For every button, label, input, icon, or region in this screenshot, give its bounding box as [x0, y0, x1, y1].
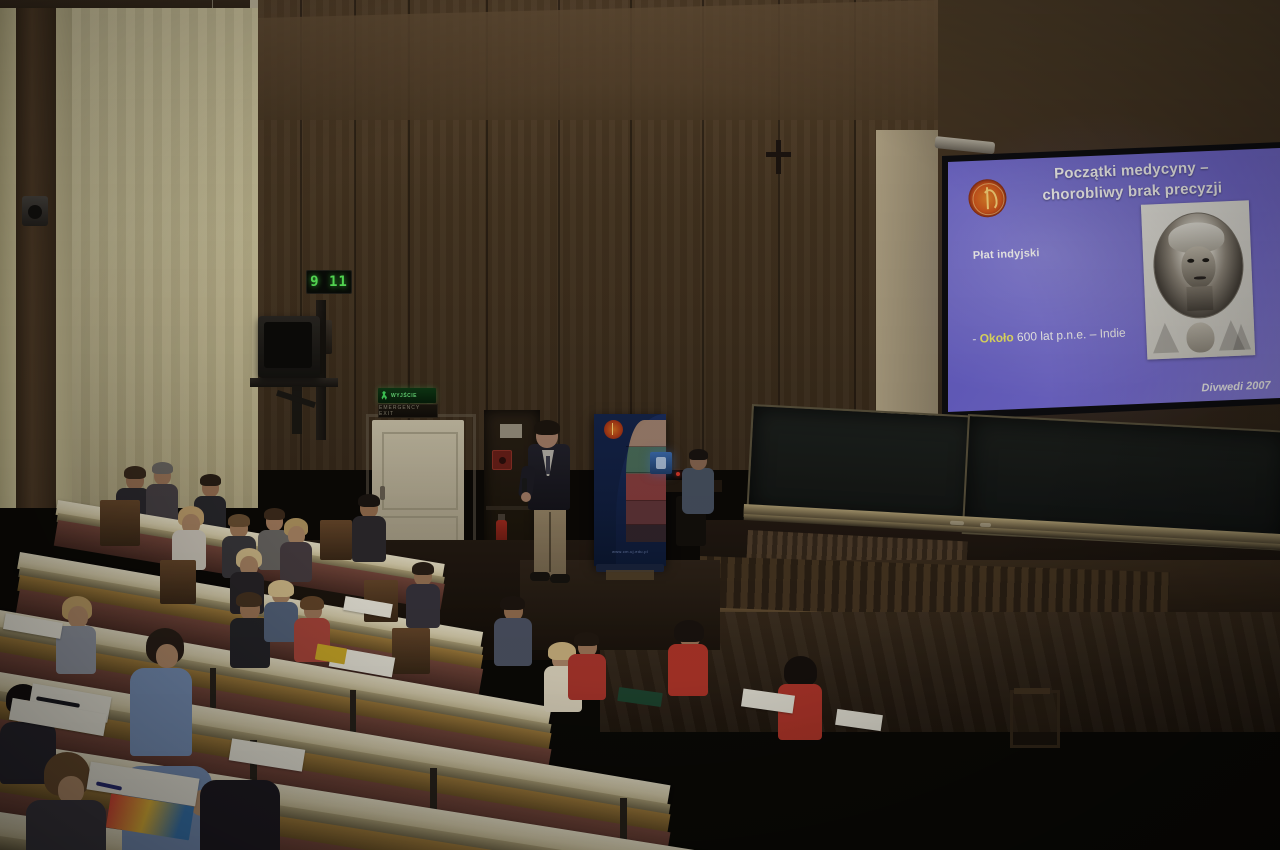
stage-chair-back: [1014, 688, 1050, 694]
exit-sign-label: WYJŚCIE: [391, 393, 417, 399]
slide-title: Początki medycyny – chorobliwy brak prec…: [1005, 156, 1259, 208]
surgical-diagram-triangle: [1232, 323, 1251, 350]
slide-subtitle: Płat indyjski: [973, 247, 1040, 262]
digital-wall-clock: 9 11: [306, 270, 352, 294]
desk-support-leg: [620, 798, 627, 844]
projection-screen: Początki medycyny – chorobliwy brak prec…: [948, 148, 1280, 412]
crucifix-icon: [776, 140, 781, 174]
presenter-shoe: [530, 572, 550, 581]
wood-wall-upper-band: [258, 0, 938, 120]
rollup-banner: www.cm.uj.edu.pl: [594, 414, 666, 566]
bullet-rest-text: 600 lat p.n.e. – Indie: [1017, 326, 1126, 345]
fire-alarm-button[interactable]: [492, 450, 512, 470]
operator-torso: [682, 468, 714, 514]
clock-display: 9 11: [310, 274, 348, 290]
presenter-leg-seam: [549, 512, 551, 572]
banner-staff-icon: [612, 423, 613, 435]
wall-pillar: [16, 8, 56, 508]
crt-monitor-screen: [264, 322, 312, 368]
slide-engraving-image: [1141, 200, 1255, 359]
stage-chair[interactable]: [1010, 690, 1060, 748]
presenter-shoe: [550, 574, 570, 583]
seat-back: [160, 560, 196, 604]
chalk-piece[interactable]: [950, 521, 964, 526]
equipment-power-led: [676, 472, 680, 476]
presenter-hair: [534, 420, 560, 435]
alarm-button-dot: [499, 457, 506, 464]
emergency-exit-sign: WYJŚCIE: [378, 388, 436, 403]
monitor-screen-content-icon: [656, 457, 666, 469]
monitor-mount-arm: [292, 386, 302, 434]
banner-url-text: www.cm.uj.edu.pl: [594, 549, 666, 554]
door-panel: [382, 432, 458, 510]
exit-sign-sub-label: EMERGENCY EXIT: [379, 405, 437, 417]
presenter-hand: [521, 492, 531, 502]
lecture-hall-photo: 9 11 WYJŚCIE EMERGENCY EXIT Początki: [0, 0, 1280, 850]
desk-support-leg: [350, 690, 356, 732]
exit-sign-secondary: EMERGENCY EXIT: [378, 404, 438, 418]
seat-back: [392, 628, 430, 674]
engraving-neck: [1186, 286, 1213, 311]
crucifix-icon: [766, 152, 791, 157]
slide-bullet-item: - Około 600 lat p.n.e. – Indie: [972, 326, 1126, 346]
bullet-highlight-text: Około: [979, 330, 1014, 345]
operator-hair: [689, 449, 708, 460]
presenter-tie: [546, 456, 550, 474]
seat-back: [320, 520, 352, 560]
seat-back: [100, 500, 140, 546]
wall-panel-left: [56, 8, 72, 508]
door-handle[interactable]: [380, 486, 385, 500]
bullet-marker: -: [972, 332, 977, 346]
desk-support-leg: [210, 668, 216, 708]
surgical-diagram-triangle: [1152, 322, 1179, 353]
banner-stand: [606, 570, 654, 580]
chalk-piece[interactable]: [980, 523, 991, 528]
speaker-cone-icon: [28, 205, 42, 219]
surgical-diagram-head: [1186, 322, 1215, 353]
slide-credit-text: Divwedi 2007: [1201, 380, 1271, 395]
banner-seal-icon: [604, 420, 623, 439]
wall-notice-card: [500, 424, 522, 438]
running-man-icon: [381, 391, 388, 400]
curtain-edge: [0, 8, 16, 508]
presentation-slide: Początki medycyny – chorobliwy brak prec…: [948, 148, 1280, 412]
